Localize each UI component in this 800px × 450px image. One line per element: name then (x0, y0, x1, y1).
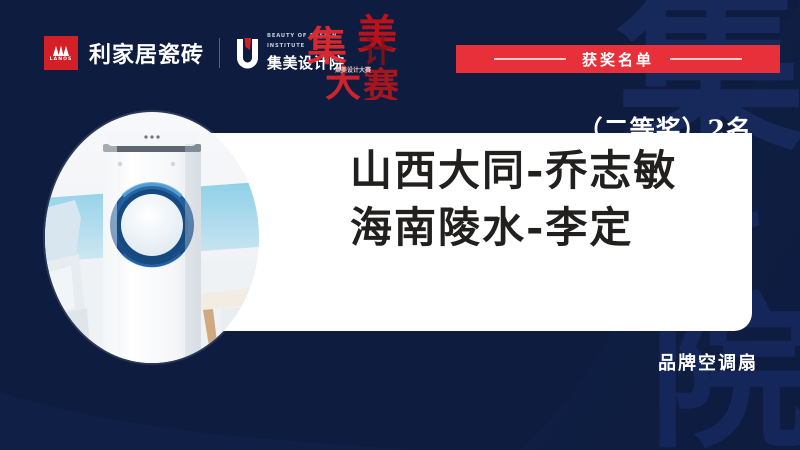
winners-list: 山西大同-乔志敏 海南陵水-李定 (350, 147, 677, 251)
winner-name: 山西大同-乔志敏 (350, 147, 677, 194)
brand-divider (219, 38, 220, 68)
svg-text:集美设计大赛: 集美设计大赛 (334, 66, 372, 74)
product-photo-artwork (45, 112, 259, 363)
brand-lockup: LANOS 利家居瓷砖 BEAUTY OF DESIGN INSTITUTE 集… (44, 33, 345, 73)
banner-label: 获奖名单 (582, 49, 654, 70)
product-photo (45, 112, 259, 363)
banner-rule-right (670, 58, 742, 60)
award-list-banner: 获奖名单 (456, 45, 780, 73)
institute-u-icon (235, 37, 260, 69)
sponsor-name-cn: 利家居瓷砖 (89, 37, 204, 69)
competition-emblem-artwork: 美 集 计 大 赛 集美设计大赛 (305, 12, 411, 100)
lanos-logo-mark: LANOS (44, 36, 78, 70)
competition-emblem: 美 集 计 大 赛 集美设计大赛 (305, 12, 411, 100)
mountain-peaks-icon (51, 45, 71, 56)
winner-name: 海南陵水-李定 (350, 204, 677, 251)
banner-rule-left (494, 58, 566, 60)
lanos-wordmark: LANOS (50, 57, 73, 62)
product-category-label: 品牌空调扇 (658, 349, 758, 375)
